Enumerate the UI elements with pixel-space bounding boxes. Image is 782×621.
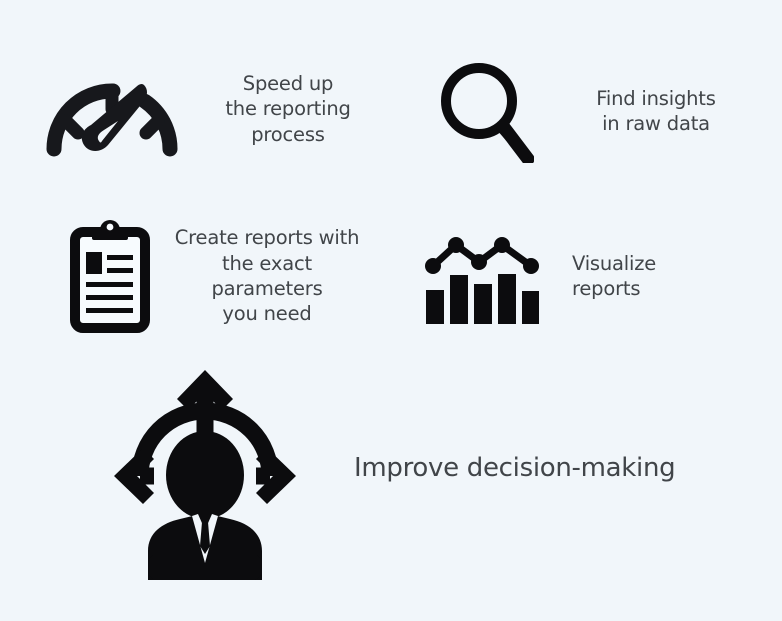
feature-find-insights-label: Find insights in raw data [581,86,731,137]
feature-find-insights: Find insights in raw data [436,56,736,166]
speedometer-icon [44,57,179,161]
clipboard-report-icon [70,218,150,334]
feature-speed-up-label: Speed up the reporting process [193,71,383,147]
feature-visualize-reports-label: Visualize reports [572,251,724,302]
feature-improve-decision-making-label: Improve decision-making [354,452,714,486]
feature-improve-decision-making: Improve decision-making [100,358,720,580]
businessman-arrows-icon [100,358,310,580]
feature-speed-up: Speed up the reporting process [44,54,389,164]
magnifying-glass-icon [436,59,534,163]
infographic-canvas: Speed up the reporting process Find insi… [0,0,782,621]
feature-visualize-reports: Visualize reports [424,226,724,326]
feature-create-reports: Create reports with the exact parameters… [70,218,390,334]
bar-line-chart-icon [424,226,540,326]
feature-create-reports-label: Create reports with the exact parameters… [167,225,367,326]
